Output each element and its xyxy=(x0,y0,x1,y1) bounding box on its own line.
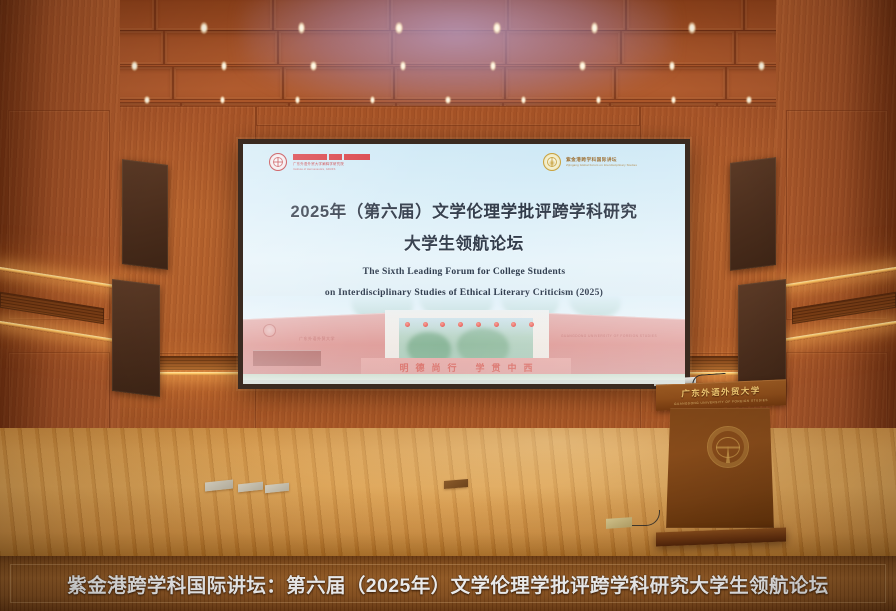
ceiling-downlight xyxy=(591,22,599,34)
slide-campus-gate-photo: 广东外语外贸大学 GUANGDONG UNIVERSITY OF FOREIGN… xyxy=(243,296,685,384)
ceiling-downlight xyxy=(493,22,501,34)
ceiling-downlight xyxy=(758,61,765,71)
ceiling-downlight xyxy=(490,61,497,71)
projector-screen-frame: 广东外语外贸大学阐释学研究院 Institute of Hermeneutics… xyxy=(238,139,690,389)
ceiling-downlight xyxy=(688,22,696,34)
forum-wordmark: 紫金港跨学科国际讲坛 Zijingang Global Forum on Int… xyxy=(566,157,637,167)
ceiling-downlight xyxy=(131,61,138,71)
wall-accent-light xyxy=(780,321,896,343)
gate-name-left: 广东外语外贸大学 xyxy=(299,336,335,342)
acoustic-speaker-panel xyxy=(730,157,776,271)
floor-cable-plate xyxy=(606,517,632,529)
gate-slogan-char: 西 xyxy=(524,361,533,374)
slide-title-chinese: 2025年（第六届）文学伦理学批评跨学科研究 大学生领航论坛 xyxy=(243,196,685,260)
ceiling-downlight xyxy=(521,96,526,104)
caption-inner-border: 紫金港跨学科国际讲坛：第六届（2025年）文学伦理学批评跨学科研究大学生领航论坛 xyxy=(10,564,886,603)
gate-window xyxy=(253,350,321,366)
red-lantern-icon xyxy=(494,322,499,327)
ceiling-downlight xyxy=(200,22,208,34)
red-lantern-icon xyxy=(405,322,410,327)
gate-slogan-char: 明 xyxy=(399,361,408,374)
gate-slogan-char: 德 xyxy=(415,361,424,374)
gate-slogan-char: 学 xyxy=(476,361,485,374)
slide-logo-left-en: Institute of Hermeneutics, GDUFS xyxy=(293,168,370,171)
ceiling-downlight xyxy=(445,96,450,104)
gate-slogan-char: 尚 xyxy=(431,361,440,374)
ceiling-downlight xyxy=(395,22,403,34)
ceiling-downlight xyxy=(746,96,751,104)
slide-logo-left: 广东外语外贸大学阐释学研究院 Institute of Hermeneutics… xyxy=(269,153,370,171)
slide-logo-right: 紫金港跨学科国际讲坛 Zijingang Global Forum on Int… xyxy=(543,153,637,171)
caption-text: 紫金港跨学科国际讲坛：第六届（2025年）文学伦理学批评跨学科研究大学生领航论坛 xyxy=(67,569,828,598)
slide-logo-right-en: Zijingang Global Forum on Interdisciplin… xyxy=(566,163,637,167)
red-lantern-icon xyxy=(423,322,428,327)
slide-subtitle-english: The Sixth Leading Forum for College Stud… xyxy=(243,262,685,303)
gdufs-emblem-icon xyxy=(707,426,749,468)
gate-seal-icon xyxy=(263,324,276,337)
projector-screen[interactable]: 广东外语外贸大学阐释学研究院 Institute of Hermeneutics… xyxy=(243,144,685,384)
caption-bar: 紫金港跨学科国际讲坛：第六届（2025年）文学伦理学批评跨学科研究大学生领航论坛 xyxy=(0,556,896,611)
photo-road xyxy=(243,380,685,384)
wall-panel xyxy=(8,110,110,320)
acoustic-speaker-panel xyxy=(112,279,160,397)
wall-accent-light xyxy=(0,321,116,343)
wall-panel xyxy=(786,110,888,320)
ceiling-downlight xyxy=(220,96,225,104)
ceiling-downlight xyxy=(295,96,300,104)
university-seal-icon xyxy=(269,153,287,171)
slide-title-line-2: 大学生领航论坛 xyxy=(243,228,685,260)
gate-slogan-char: 行 xyxy=(447,361,456,374)
wordmark-bars xyxy=(293,154,370,160)
wordmark-bar xyxy=(293,154,327,160)
acoustic-speaker-panel xyxy=(122,159,168,270)
ceiling-glow xyxy=(242,0,672,110)
wordmark-bar xyxy=(329,154,342,160)
gate-slogan-char: 中 xyxy=(508,361,517,374)
wall-panel xyxy=(256,106,640,126)
ceiling-downlight xyxy=(144,96,149,104)
slide-subtitle-line-1: The Sixth Leading Forum for College Stud… xyxy=(243,262,685,283)
forum-seal-icon xyxy=(543,153,561,171)
podium-base xyxy=(656,528,786,547)
red-lantern-icon xyxy=(529,322,534,327)
slide-subtitle-line-2: on Interdisciplinary Studies of Ethical … xyxy=(243,283,685,304)
gate-slogan-char: 贯 xyxy=(492,361,501,374)
slide-logo-row: 广东外语外贸大学阐释学研究院 Institute of Hermeneutics… xyxy=(243,153,685,171)
gate-name-right: GUANGDONG UNIVERSITY OF FOREIGN STUDIES xyxy=(561,334,657,338)
slide-title-line-1: 2025年（第六届）文学伦理学批评跨学科研究 xyxy=(243,196,685,228)
wordmark-bar xyxy=(344,154,370,160)
podium-front-panel xyxy=(666,408,774,528)
red-lantern-icon xyxy=(476,322,481,327)
ceiling-downlight xyxy=(310,61,317,71)
institute-wordmark: 广东外语外贸大学阐释学研究院 Institute of Hermeneutics… xyxy=(293,154,370,171)
lecture-hall-photo: 广东外语外贸大学阐释学研究院 Institute of Hermeneutics… xyxy=(0,0,896,611)
ceiling-downlight xyxy=(579,61,586,71)
slide-logo-left-cn: 广东外语外贸大学阐释学研究院 xyxy=(293,161,370,166)
speaker-podium[interactable]: 广东外语外贸大学 GUANGDONG UNIVERSITY OF FOREIGN… xyxy=(648,382,808,550)
